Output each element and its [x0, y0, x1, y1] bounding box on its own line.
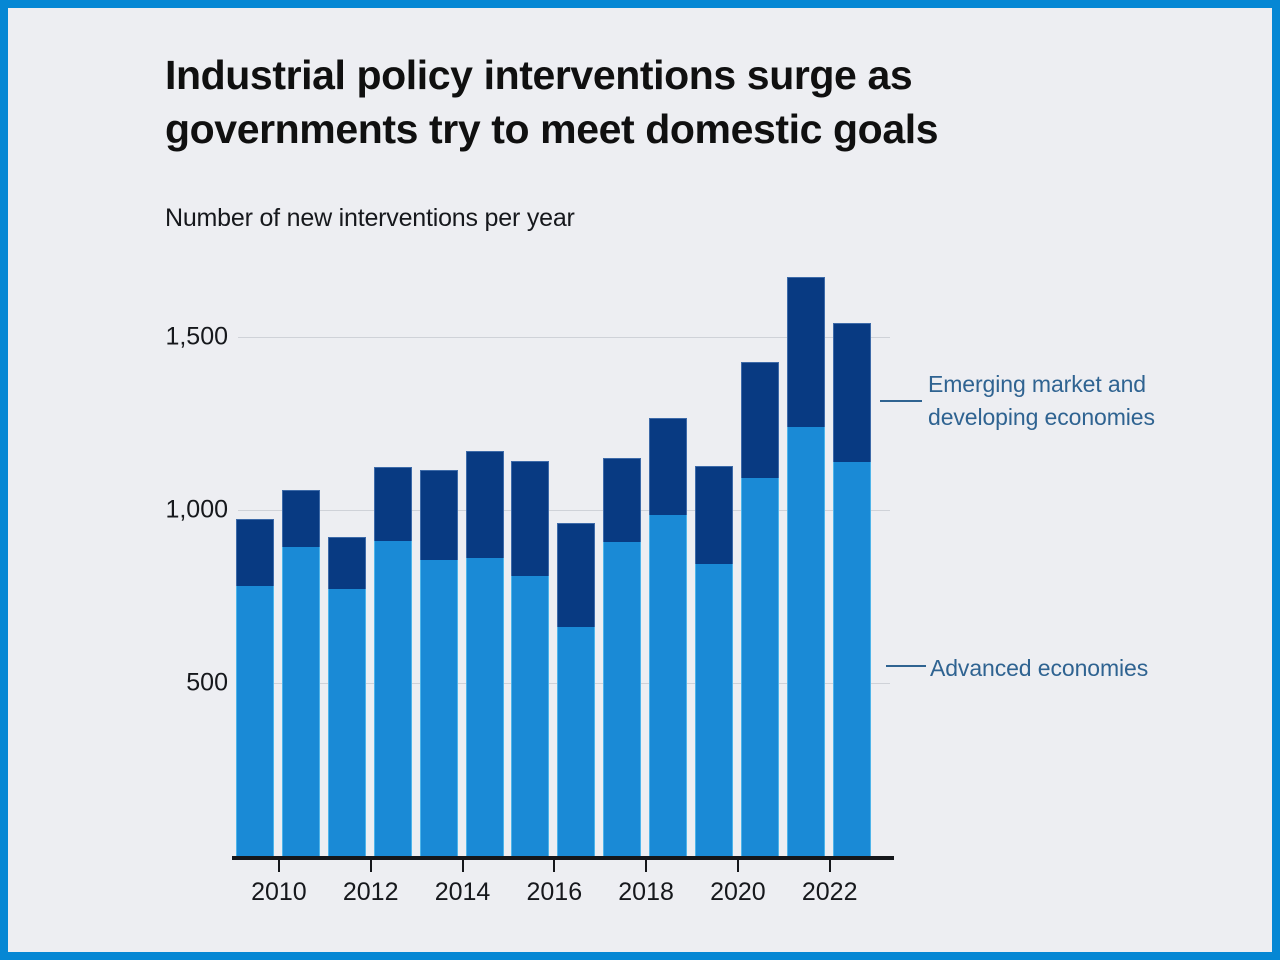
y-axis-tick-label: 1,500	[68, 323, 228, 352]
x-axis-tick-label: 2020	[710, 878, 766, 907]
chart-plot-area: 5001,0001,500 20102012201420162018202020…	[8, 8, 1272, 952]
x-axis-tick-label: 2016	[526, 878, 582, 907]
bar-segment-emde[interactable]	[511, 461, 549, 576]
bar-2013[interactable]	[420, 470, 458, 856]
x-axis-tick-mark	[553, 860, 555, 872]
bar-segment-advanced[interactable]	[787, 427, 825, 856]
bar-2018[interactable]	[649, 418, 687, 856]
advanced-leader-line	[886, 665, 926, 667]
bar-segment-emde[interactable]	[282, 490, 320, 547]
bar-segment-advanced[interactable]	[557, 627, 595, 856]
bar-2010[interactable]	[282, 490, 320, 856]
bar-segment-advanced[interactable]	[374, 541, 412, 856]
bar-segment-advanced[interactable]	[420, 560, 458, 856]
emde-annotation-label: Emerging market and developing economies	[928, 368, 1218, 435]
bar-segment-advanced[interactable]	[236, 586, 274, 856]
x-axis-tick-label: 2012	[343, 878, 399, 907]
x-axis-tick-mark	[645, 860, 647, 872]
emde-leader-line	[880, 400, 922, 402]
bar-segment-advanced[interactable]	[466, 558, 504, 856]
bar-segment-emde[interactable]	[741, 362, 779, 478]
bar-segment-emde[interactable]	[833, 323, 871, 462]
x-axis-tick-label: 2022	[802, 878, 858, 907]
bar-segment-emde[interactable]	[374, 467, 412, 541]
bar-segment-emde[interactable]	[787, 277, 825, 427]
bar-segment-emde[interactable]	[603, 458, 641, 542]
bar-segment-emde[interactable]	[557, 523, 595, 627]
x-axis-tick-mark	[278, 860, 280, 872]
bar-segment-advanced[interactable]	[833, 462, 871, 856]
chart-frame: Industrial policy interventions surge as…	[8, 8, 1272, 952]
bar-segment-advanced[interactable]	[282, 547, 320, 856]
bar-segment-advanced[interactable]	[695, 564, 733, 856]
x-axis-tick-mark	[370, 860, 372, 872]
bar-2012[interactable]	[374, 467, 412, 856]
bar-2015[interactable]	[511, 461, 549, 856]
x-axis-tick-label: 2010	[251, 878, 307, 907]
bar-segment-advanced[interactable]	[649, 515, 687, 856]
bar-2020[interactable]	[741, 362, 779, 856]
x-axis-tick-label: 2014	[435, 878, 491, 907]
x-axis-line	[232, 856, 894, 860]
bar-2014[interactable]	[466, 451, 504, 856]
bar-segment-advanced[interactable]	[511, 576, 549, 856]
bar-2019[interactable]	[695, 466, 733, 856]
bar-segment-advanced[interactable]	[603, 542, 641, 856]
bar-2011[interactable]	[328, 537, 366, 856]
bar-segment-emde[interactable]	[236, 519, 274, 586]
bar-segment-emde[interactable]	[695, 466, 733, 564]
bar-segment-advanced[interactable]	[741, 478, 779, 856]
bar-segment-emde[interactable]	[420, 470, 458, 560]
x-axis-tick-mark	[462, 860, 464, 872]
bar-segment-emde[interactable]	[328, 537, 366, 589]
bar-2016[interactable]	[557, 523, 595, 856]
y-axis-tick-label: 1,000	[68, 496, 228, 525]
advanced-annotation-label: Advanced economies	[930, 652, 1250, 685]
bar-segment-emde[interactable]	[649, 418, 687, 515]
bar-segment-advanced[interactable]	[328, 589, 366, 856]
x-axis-tick-mark	[829, 860, 831, 872]
y-axis-tick-label: 500	[68, 669, 228, 698]
bar-segment-emde[interactable]	[466, 451, 504, 558]
bar-2022[interactable]	[833, 323, 871, 856]
bar-2009[interactable]	[236, 519, 274, 856]
bar-2021[interactable]	[787, 277, 825, 856]
bar-2017[interactable]	[603, 458, 641, 856]
x-axis-tick-label: 2018	[618, 878, 674, 907]
x-axis-tick-mark	[737, 860, 739, 872]
